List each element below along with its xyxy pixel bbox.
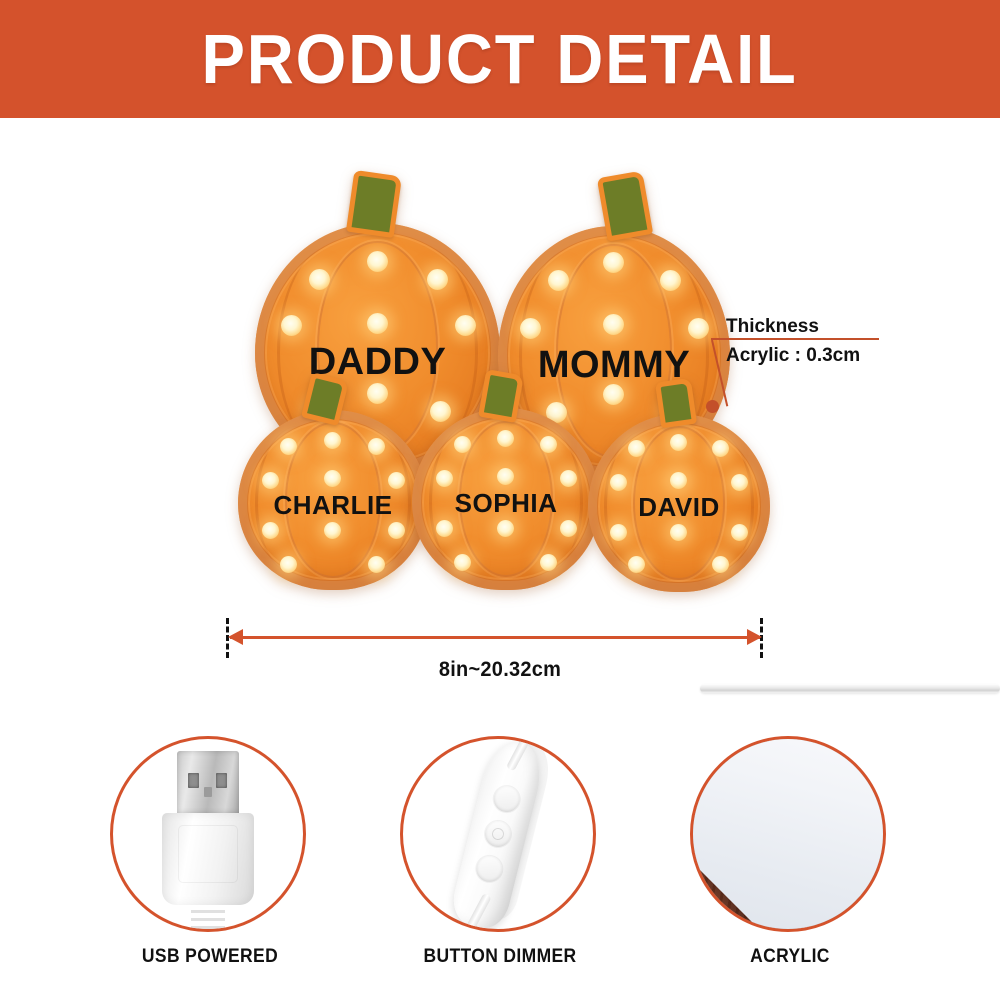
led-bulb bbox=[712, 556, 729, 573]
usb-center-pin bbox=[204, 787, 212, 797]
usb-contact-slot bbox=[216, 773, 227, 788]
led-bulb bbox=[281, 315, 302, 336]
pumpkin-stem-icon bbox=[597, 170, 653, 241]
pumpkin-name-label: DADDY bbox=[255, 341, 500, 384]
led-bulb bbox=[324, 470, 341, 487]
dimmer-cable-top bbox=[506, 737, 530, 771]
led-bulb bbox=[548, 270, 569, 291]
dimmer-button bbox=[474, 853, 506, 885]
led-bulb bbox=[560, 520, 577, 537]
led-bulb bbox=[660, 270, 681, 291]
page-title: PRODUCT DETAIL bbox=[202, 19, 798, 99]
usb-connector-head bbox=[177, 751, 239, 813]
pumpkin-name-label: MOMMY bbox=[498, 344, 730, 387]
dimension-arrow-left bbox=[228, 629, 243, 645]
led-bulb bbox=[427, 269, 448, 290]
pumpkin-charlie: CHARLIE bbox=[238, 410, 428, 590]
led-bulb bbox=[324, 522, 341, 539]
pumpkin-name-label: SOPHIA bbox=[412, 488, 600, 519]
product-image-stage: DADDY MOMMY bbox=[0, 118, 1000, 648]
led-bulb bbox=[262, 522, 279, 539]
led-bulb bbox=[610, 524, 627, 541]
led-bulb bbox=[388, 472, 405, 489]
led-bulb bbox=[324, 432, 341, 449]
led-bulb bbox=[497, 468, 514, 485]
inline-dimmer-switch-icon bbox=[400, 736, 596, 932]
usb-plug-art bbox=[162, 751, 254, 932]
led-bulb bbox=[670, 434, 687, 451]
usb-contact-slot bbox=[188, 773, 199, 788]
led-bulb bbox=[367, 383, 388, 404]
pumpkin-stem-icon bbox=[655, 378, 697, 429]
feature-label: BUTTON DIMMER bbox=[408, 946, 592, 968]
led-bulb bbox=[280, 438, 297, 455]
led-bulb bbox=[670, 524, 687, 541]
dimension-label: 8in~20.32cm bbox=[25, 658, 975, 682]
led-bulb bbox=[367, 313, 388, 334]
led-bulb bbox=[540, 436, 557, 453]
led-bulb bbox=[540, 554, 557, 571]
led-bulb bbox=[603, 384, 624, 405]
led-bulb bbox=[731, 474, 748, 491]
led-bulb bbox=[436, 520, 453, 537]
dimmer-cable-bottom bbox=[465, 893, 492, 932]
feature-usb-powered: USB POWERED bbox=[110, 736, 310, 986]
led-bulb bbox=[560, 470, 577, 487]
feature-acrylic: ACRYLIC bbox=[690, 736, 890, 986]
dimension-arrow-right bbox=[747, 629, 762, 645]
dimmer-button bbox=[491, 783, 523, 815]
led-bulb bbox=[603, 252, 624, 273]
dimension-line bbox=[230, 636, 760, 639]
led-bulb bbox=[670, 472, 687, 489]
led-bulb bbox=[712, 440, 729, 457]
led-bulb bbox=[497, 430, 514, 447]
led-bulb bbox=[436, 470, 453, 487]
feature-list: USB POWERED BUTTON DIMMER ACR bbox=[0, 736, 1000, 986]
led-bulb bbox=[731, 524, 748, 541]
led-bulb bbox=[497, 520, 514, 537]
pumpkin-sophia: SOPHIA bbox=[412, 408, 600, 590]
led-bulb bbox=[388, 522, 405, 539]
led-bulb bbox=[454, 436, 471, 453]
callout-underline bbox=[711, 338, 879, 340]
pumpkin-stem-icon bbox=[346, 170, 402, 238]
dimmer-button bbox=[482, 818, 514, 850]
feature-label: ACRYLIC bbox=[698, 946, 882, 968]
led-bulb bbox=[367, 251, 388, 272]
led-bulb bbox=[688, 318, 709, 339]
led-bulb bbox=[368, 556, 385, 573]
acrylic-sheet-icon bbox=[690, 736, 886, 932]
callout-subtitle: Acrylic : 0.3cm bbox=[726, 345, 860, 367]
pumpkin-david: DAVID bbox=[588, 414, 770, 592]
led-bulb bbox=[628, 556, 645, 573]
pumpkin-name-label: CHARLIE bbox=[238, 490, 428, 521]
usb-strain-relief bbox=[191, 905, 225, 932]
page-header-banner: PRODUCT DETAIL bbox=[0, 0, 1000, 118]
led-bulb bbox=[262, 472, 279, 489]
callout-title: Thickness bbox=[726, 316, 819, 338]
power-cord bbox=[700, 684, 1000, 693]
feature-label: USB POWERED bbox=[118, 946, 302, 968]
led-bulb bbox=[368, 438, 385, 455]
led-bulb bbox=[610, 474, 627, 491]
feature-button-dimmer: BUTTON DIMMER bbox=[400, 736, 600, 986]
led-bulb bbox=[280, 556, 297, 573]
usb-plug-housing bbox=[162, 813, 254, 905]
led-bulb bbox=[454, 554, 471, 571]
led-bulb bbox=[520, 318, 541, 339]
callout-anchor-dot bbox=[706, 400, 719, 413]
led-bulb bbox=[455, 315, 476, 336]
pumpkin-name-label: DAVID bbox=[588, 492, 770, 523]
led-bulb bbox=[603, 314, 624, 335]
led-bulb bbox=[628, 440, 645, 457]
usb-plug-icon bbox=[110, 736, 306, 932]
led-bulb bbox=[309, 269, 330, 290]
product-detail-page: PRODUCT DETAIL DADDY bbox=[0, 0, 1000, 1000]
